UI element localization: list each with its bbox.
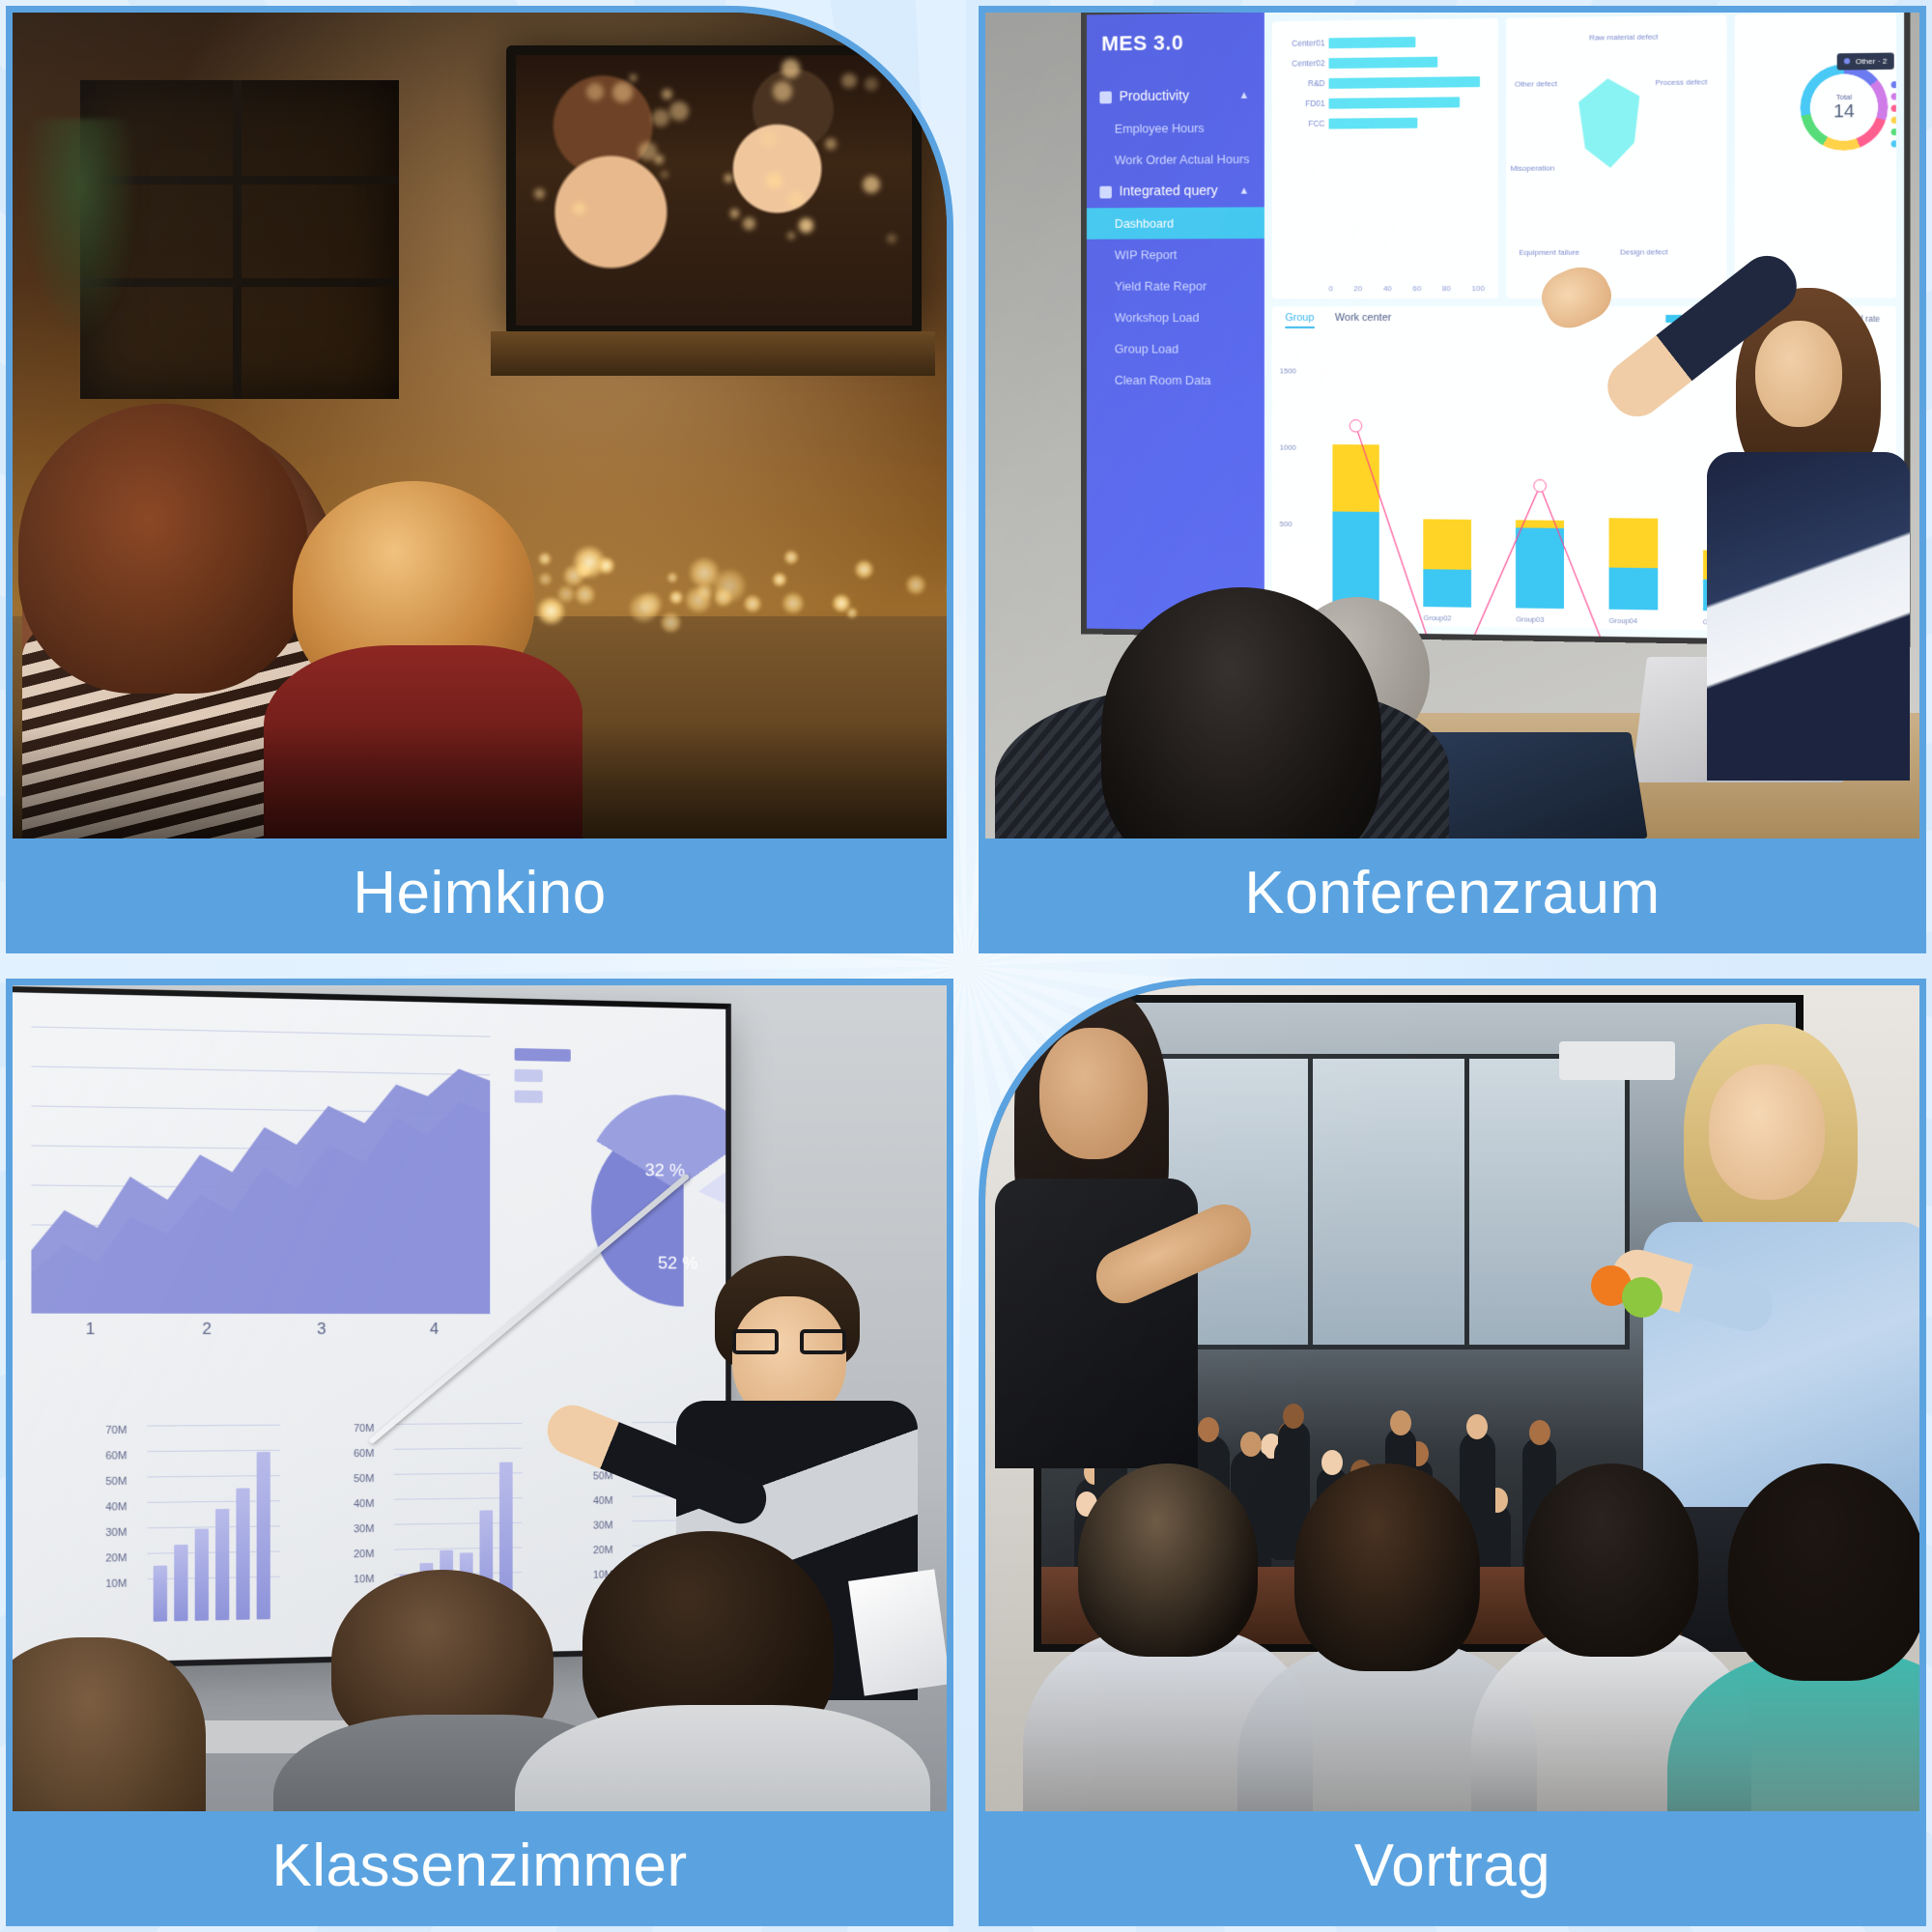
apple-icon: [1622, 1277, 1662, 1318]
caption-lecture: Vortrag: [985, 1811, 1919, 1919]
axis-tick: 1500: [1280, 366, 1296, 375]
radar-axis-label: Misoperation: [1510, 163, 1554, 172]
legend-dot: [1891, 93, 1896, 99]
group-chart-subtabs: Group Work center: [1285, 312, 1391, 328]
fruit-props: [1591, 1265, 1678, 1323]
axis-tick: 40: [1383, 284, 1392, 293]
collage-grid: Heimkino MES 3.0 Productivity ▲ Employee…: [0, 0, 1932, 1932]
bar: [174, 1545, 187, 1621]
audience-head: [1078, 1463, 1258, 1657]
axis-tick: 10M: [105, 1571, 127, 1597]
caption-label: Klassenzimmer: [271, 1832, 687, 1900]
axis-tick: 1: [86, 1320, 96, 1339]
tooltip-text: Other · 2: [1856, 56, 1888, 66]
bar-category-label: R&D: [1274, 78, 1325, 89]
bar: [1329, 118, 1418, 129]
bar: [236, 1488, 249, 1620]
axis-tick: 30M: [105, 1520, 127, 1546]
sidebar-section-productivity[interactable]: Productivity ▲: [1087, 79, 1264, 114]
radar-axis-label: Process defect: [1656, 77, 1708, 87]
dashboard-sidebar: MES 3.0 Productivity ▲ Employee Hours Wo…: [1087, 13, 1264, 631]
woman-hair: [18, 404, 308, 694]
caption-label: Heimkino: [353, 859, 606, 927]
donut-total-label: Total: [1836, 92, 1852, 100]
bar: [195, 1529, 209, 1621]
bar-category-label: Center02: [1274, 58, 1325, 69]
axis-tick: 40M: [593, 1489, 613, 1514]
presenter-blazer: [1707, 452, 1910, 781]
screen-cabinet: [491, 331, 935, 376]
legend-swatch: [515, 1069, 543, 1082]
area-chart: [31, 1026, 490, 1314]
axis-tick: 60M: [354, 1441, 374, 1466]
axis-tick: 2: [202, 1320, 212, 1339]
audience-member: [1667, 1463, 1919, 1811]
sidebar-section-label: Productivity: [1120, 89, 1189, 105]
axis-tick: 80: [1442, 284, 1451, 293]
legend-dot: [1891, 128, 1896, 135]
sidebar-item-employee-hours[interactable]: Employee Hours: [1087, 111, 1264, 144]
axis-tick: 20M: [105, 1546, 127, 1572]
axis-tick: 30M: [354, 1517, 374, 1542]
presenter-right-face: [1709, 1065, 1825, 1200]
panel-lecture[interactable]: Vortrag: [979, 979, 1926, 1926]
sidebar-item-workshop-load[interactable]: Workshop Load: [1087, 301, 1264, 333]
gridline: [148, 1425, 280, 1427]
caption-label: Vortrag: [1354, 1832, 1550, 1900]
bar-category-label: FCC: [1274, 119, 1325, 128]
caption-conference-room: Konferenzraum: [985, 838, 1919, 947]
bar: [257, 1452, 270, 1619]
area-chart-xaxis: 1234: [31, 1320, 490, 1339]
donut-legend: [1891, 81, 1896, 147]
radar-axis-label: Raw material defect: [1589, 33, 1659, 43]
photo-classroom: 1234 32 % 16 % 52 % 70M60M50M40M30M20M10…: [13, 985, 947, 1811]
legend-swatch: [515, 1048, 571, 1062]
area-chart-legend: [515, 1048, 571, 1112]
presenter-left-face: [1039, 1028, 1148, 1159]
axis-tick: 100: [1472, 284, 1485, 293]
panel-home-cinema[interactable]: Heimkino: [6, 6, 953, 953]
sidebar-item-dashboard[interactable]: Dashboard: [1087, 207, 1264, 239]
audience-head: [1294, 1463, 1480, 1671]
panel-conference-room[interactable]: MES 3.0 Productivity ▲ Employee Hours Wo…: [979, 6, 1926, 953]
radar-polygon: [1576, 78, 1642, 168]
dashboard-top-row: Center01Center02R&DFD01FCC 020406080100 …: [1272, 13, 1896, 298]
bar-chart-xaxis: 020406080100: [1329, 284, 1485, 293]
photo-lecture: [985, 985, 1919, 1811]
student-right: [582, 1531, 901, 1811]
axis-tick: 20M: [354, 1542, 374, 1567]
subtab-group[interactable]: Group: [1285, 312, 1314, 328]
gridline: [394, 1423, 523, 1425]
legend-swatch: [515, 1091, 543, 1103]
chevron-up-icon: ▲: [1239, 185, 1250, 197]
gridline: [31, 1065, 490, 1075]
presenter-woman: [1688, 288, 1910, 771]
axis-tick: 60M: [105, 1443, 127, 1469]
sidebar-item-wip-report[interactable]: WIP Report: [1087, 239, 1264, 270]
bar-category-label: FD01: [1274, 99, 1325, 108]
bar: [215, 1509, 229, 1621]
bar: [1329, 57, 1438, 69]
bar: [1329, 97, 1460, 108]
donut-center-total: Total 14: [1800, 64, 1888, 151]
panel-classroom[interactable]: 1234 32 % 16 % 52 % 70M60M50M40M30M20M10…: [6, 979, 953, 1926]
glasses-icon: [732, 1329, 846, 1354]
axis-tick: 500: [1280, 520, 1293, 528]
axis-tick: 40M: [105, 1494, 127, 1520]
legend-dot: [1891, 104, 1896, 111]
axis-tick: 4: [430, 1320, 439, 1339]
gridline: [394, 1448, 523, 1450]
photo-conference-room: MES 3.0 Productivity ▲ Employee Hours Wo…: [985, 13, 1919, 838]
sidebar-item-group-load[interactable]: Group Load: [1087, 333, 1264, 365]
radar-axis-label: Other defect: [1515, 79, 1557, 89]
sidebar-section-label: Integrated query: [1120, 184, 1218, 199]
mini-chart-1: 70M60M50M40M30M20M10M: [107, 1417, 280, 1634]
bar: [1329, 37, 1416, 48]
axis-tick: 40M: [354, 1492, 374, 1517]
card-center-bar-chart: Center01Center02R&DFD01FCC 020406080100: [1272, 18, 1498, 298]
sidebar-item-clean-room-data[interactable]: Clean Room Data: [1087, 364, 1264, 396]
subtab-work-center[interactable]: Work center: [1335, 312, 1391, 328]
sidebar-item-work-order-actual-hours[interactable]: Work Order Actual Hours: [1087, 143, 1264, 176]
presenter-face: [1755, 321, 1842, 427]
app-title: MES 3.0: [1087, 19, 1264, 81]
radar-axis-label: Equipment failure: [1519, 247, 1579, 256]
sidebar-item-yield-rate-report[interactable]: Yield Rate Repor: [1087, 270, 1264, 302]
axis-tick: 3: [317, 1320, 326, 1339]
axis-tick: 50M: [105, 1469, 127, 1495]
sidebar-section-integrated-query[interactable]: Integrated query ▲: [1087, 175, 1264, 209]
axis-tick: 1000: [1280, 443, 1296, 452]
foreground-shadow: [13, 723, 947, 838]
donut-tooltip: Other · 2: [1837, 52, 1894, 70]
plant: [22, 119, 138, 341]
movie-bokeh-lights: [516, 55, 912, 326]
donut-total-value: 14: [1833, 101, 1855, 124]
axis-tick: 70M: [105, 1418, 127, 1444]
projector-screen: [506, 45, 922, 335]
caption-home-cinema: Heimkino: [13, 838, 947, 947]
productivity-icon: [1099, 91, 1111, 103]
gridline: [31, 1026, 490, 1037]
bar: [154, 1565, 167, 1621]
legend-dot: [1891, 116, 1896, 123]
chevron-up-icon: ▲: [1239, 90, 1250, 101]
audience: [985, 1386, 1919, 1811]
card-defect-radar-chart: Raw material defectOther defectProcess d…: [1506, 14, 1726, 298]
tooltip-dot-icon: [1844, 58, 1850, 64]
horizontal-bar-chart: Center01Center02R&DFD01FCC: [1329, 30, 1485, 275]
bar-category-label: Center01: [1274, 38, 1325, 48]
axis-tick: 60: [1412, 284, 1421, 293]
bar: [1329, 76, 1481, 89]
card-defect-donut-chart: Total 14 Other · 2: [1734, 13, 1896, 298]
axis-tick: 20: [1353, 284, 1362, 293]
photo-home-cinema: [13, 13, 947, 838]
radar-axis-label: Design defect: [1620, 247, 1668, 256]
grid-icon: [1099, 185, 1111, 198]
legend-dot: [1891, 81, 1896, 88]
caption-label: Konferenzraum: [1244, 859, 1660, 927]
axis-tick: 50M: [354, 1466, 374, 1492]
caption-classroom: Klassenzimmer: [13, 1811, 947, 1919]
axis-tick: 0: [1329, 284, 1333, 293]
legend-dot: [1891, 140, 1896, 147]
audience-head: [1728, 1463, 1919, 1681]
radar-chart: Raw material defectOther defectProcess d…: [1506, 14, 1726, 298]
pie-label-16: 16 %: [721, 1198, 731, 1219]
